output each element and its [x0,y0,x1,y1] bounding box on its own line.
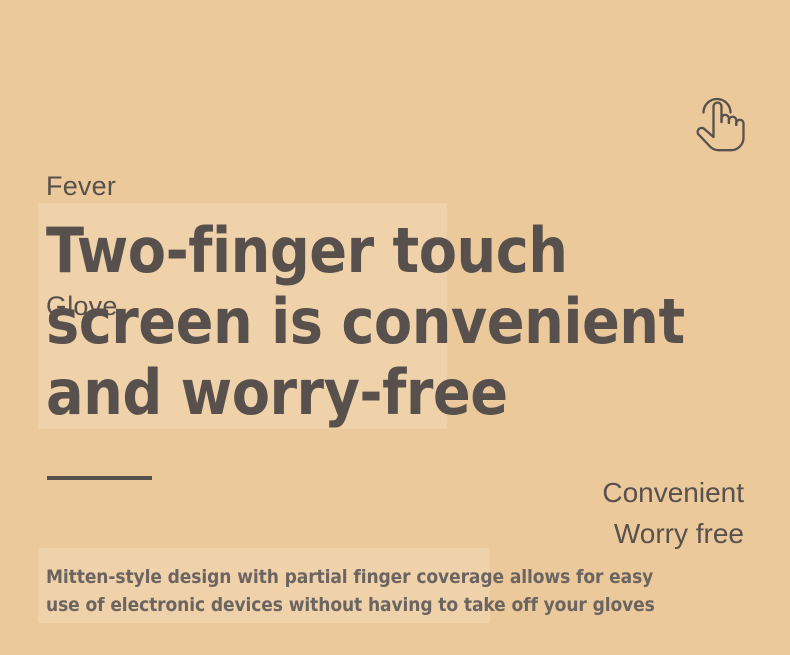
body-copy-line-1: Mitten-style design with partial finger … [46,563,756,591]
keyword-worry-free: Worry free [602,513,744,554]
body-copy: Mitten-style design with partial finger … [46,563,756,619]
divider-rule [47,476,152,480]
keyword-convenient: Convenient [602,472,744,513]
keyword-list: Convenient Worry free [602,472,744,554]
headline-line-3: and worry-free [46,357,746,428]
headline-line-1: Two-finger touch [46,215,746,286]
body-copy-line-2: use of electronic devices without having… [46,591,756,619]
touch-tap-hand-icon [694,92,746,152]
headline-line-2: screen is convenient [46,286,746,357]
brand-name-line-1: Fever [46,166,118,206]
page-title: Two-finger touch screen is convenient an… [46,215,746,428]
product-feature-poster: Fever Glove Two-finger touch screen is c… [0,0,790,655]
